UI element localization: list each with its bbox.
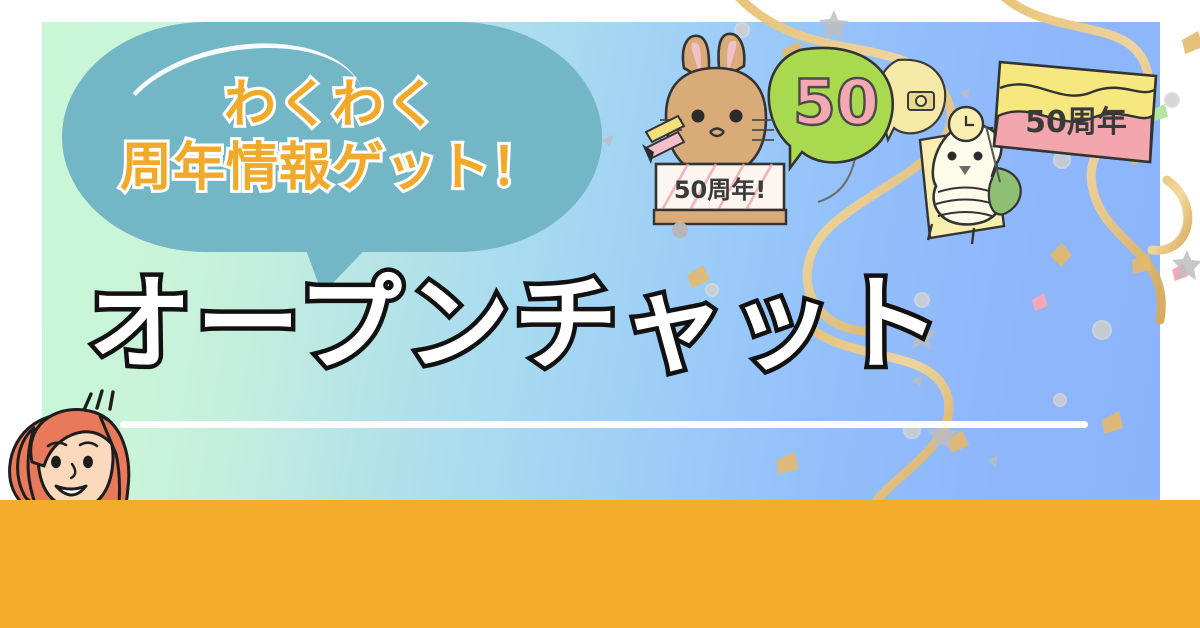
speech-bubble-line2: 周年情報ゲット！ [62,137,602,200]
cta-bar[interactable]: 駒林小学校５０周年オープンチャットへの 参加はこちら [0,500,1200,628]
promotional-banner: 50 50周年! [0,0,1200,628]
speech-bubble: わくわく 周年情報ゲット！ [62,22,602,284]
page-title: オープンチャット [88,272,1118,376]
rabbit-banner-text: 50周年! [674,176,766,204]
flag-text: 50周年 [1025,105,1127,140]
speech-bubble-line1: わくわく [62,74,602,137]
divider [120,421,1088,428]
speech-bubble-text: わくわく 周年情報ゲット！ [62,74,602,201]
balloon-number: 50 [793,66,879,139]
